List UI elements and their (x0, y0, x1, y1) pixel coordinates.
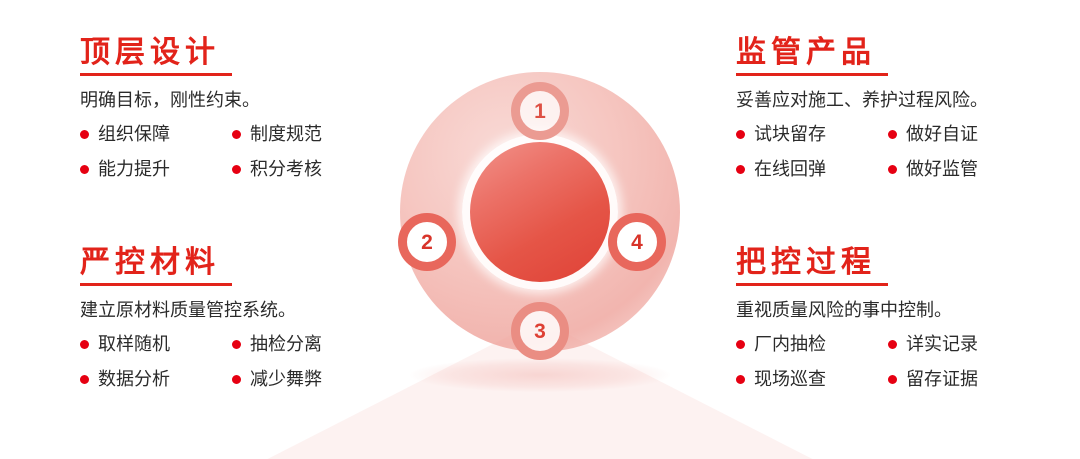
list-item-label: 留存证据 (906, 368, 978, 391)
list-item: 试块留存 (736, 123, 888, 146)
bullet-dot-icon (888, 340, 897, 349)
list-item-label: 能力提升 (98, 158, 170, 181)
bullet-dot-icon (232, 130, 241, 139)
list-item-label: 组织保障 (98, 123, 170, 146)
list-item: 详实记录 (888, 333, 1040, 356)
list-item-label: 做好监管 (906, 158, 978, 181)
section-top-left-bullets: 组织保障 制度规范 能力提升 积分考核 (80, 123, 380, 181)
list-item: 厂内抽检 (736, 333, 888, 356)
badge-3[interactable]: 3 (511, 302, 569, 360)
section-top-right-subtitle: 妥善应对施工、养护过程风险。 (736, 89, 1036, 112)
list-item: 做好自证 (888, 123, 1040, 146)
bullet-dot-icon (736, 165, 745, 174)
bullet-dot-icon (232, 375, 241, 384)
list-item-label: 试块留存 (754, 123, 826, 146)
list-item: 能力提升 (80, 158, 232, 181)
bullet-dot-icon (888, 165, 897, 174)
center-circle-graphic: 1 2 3 4 (378, 58, 702, 382)
bullet-dot-icon (80, 130, 89, 139)
list-item-label: 数据分析 (98, 368, 170, 391)
badge-2-label: 2 (421, 232, 433, 253)
section-bottom-left-heading: 严控材料 (80, 246, 380, 280)
bullet-dot-icon (736, 130, 745, 139)
badge-1[interactable]: 1 (511, 82, 569, 140)
list-item: 抽检分离 (232, 333, 384, 356)
bullet-dot-icon (80, 340, 89, 349)
section-bottom-left-subtitle: 建立原材料质量管控系统。 (80, 299, 380, 322)
list-item: 减少舞弊 (232, 368, 384, 391)
section-bottom-left-bullets: 取样随机 抽检分离 数据分析 减少舞弊 (80, 333, 380, 391)
section-top-left-subtitle: 明确目标，刚性约束。 (80, 89, 380, 112)
list-item-label: 抽检分离 (250, 333, 322, 356)
bullet-dot-icon (888, 375, 897, 384)
list-item: 数据分析 (80, 368, 232, 391)
bullet-dot-icon (232, 165, 241, 174)
bullet-dot-icon (232, 340, 241, 349)
list-item-label: 取样随机 (98, 333, 170, 356)
bullet-dot-icon (80, 375, 89, 384)
badge-1-label: 1 (534, 101, 546, 122)
list-item: 在线回弹 (736, 158, 888, 181)
list-item: 积分考核 (232, 158, 384, 181)
section-top-right-heading: 监管产品 (736, 36, 1036, 70)
list-item: 留存证据 (888, 368, 1040, 391)
section-bottom-right-underline (736, 283, 888, 286)
section-bottom-right-bullets: 厂内抽检 详实记录 现场巡查 留存证据 (736, 333, 1036, 391)
bullet-dot-icon (736, 375, 745, 384)
section-top-left-underline (80, 73, 232, 76)
bullet-dot-icon (736, 340, 745, 349)
list-item-label: 详实记录 (906, 333, 978, 356)
list-item-label: 减少舞弊 (250, 368, 322, 391)
section-bottom-right-heading: 把控过程 (736, 246, 1036, 280)
section-top-right: 监管产品 妥善应对施工、养护过程风险。 试块留存 做好自证 在线回弹 做好监管 (736, 36, 1036, 181)
badge-4-label: 4 (631, 232, 643, 253)
list-item: 做好监管 (888, 158, 1040, 181)
list-item: 制度规范 (232, 123, 384, 146)
badge-3-label: 3 (534, 321, 546, 342)
section-bottom-left-underline (80, 283, 232, 286)
section-bottom-right-subtitle: 重视质量风险的事中控制。 (736, 299, 1036, 322)
ground-shadow (410, 358, 670, 392)
section-bottom-left: 严控材料 建立原材料质量管控系统。 取样随机 抽检分离 数据分析 减少舞弊 (80, 246, 380, 391)
infographic-canvas: 1 2 3 4 顶层设计 明确目标，刚性约束。 组织保障 制度规范 (0, 0, 1080, 459)
badge-4[interactable]: 4 (608, 213, 666, 271)
section-top-right-bullets: 试块留存 做好自证 在线回弹 做好监管 (736, 123, 1036, 181)
list-item: 组织保障 (80, 123, 232, 146)
section-bottom-right: 把控过程 重视质量风险的事中控制。 厂内抽检 详实记录 现场巡查 留存证据 (736, 246, 1036, 391)
list-item: 现场巡查 (736, 368, 888, 391)
list-item-label: 做好自证 (906, 123, 978, 146)
inner-red-circle (470, 142, 610, 282)
list-item-label: 厂内抽检 (754, 333, 826, 356)
bullet-dot-icon (888, 130, 897, 139)
list-item: 取样随机 (80, 333, 232, 356)
list-item-label: 现场巡查 (754, 368, 826, 391)
bullet-dot-icon (80, 165, 89, 174)
list-item-label: 在线回弹 (754, 158, 826, 181)
badge-2[interactable]: 2 (398, 213, 456, 271)
section-top-left-heading: 顶层设计 (80, 36, 380, 70)
section-top-left: 顶层设计 明确目标，刚性约束。 组织保障 制度规范 能力提升 积分考核 (80, 36, 380, 181)
list-item-label: 积分考核 (250, 158, 322, 181)
section-top-right-underline (736, 73, 888, 76)
list-item-label: 制度规范 (250, 123, 322, 146)
